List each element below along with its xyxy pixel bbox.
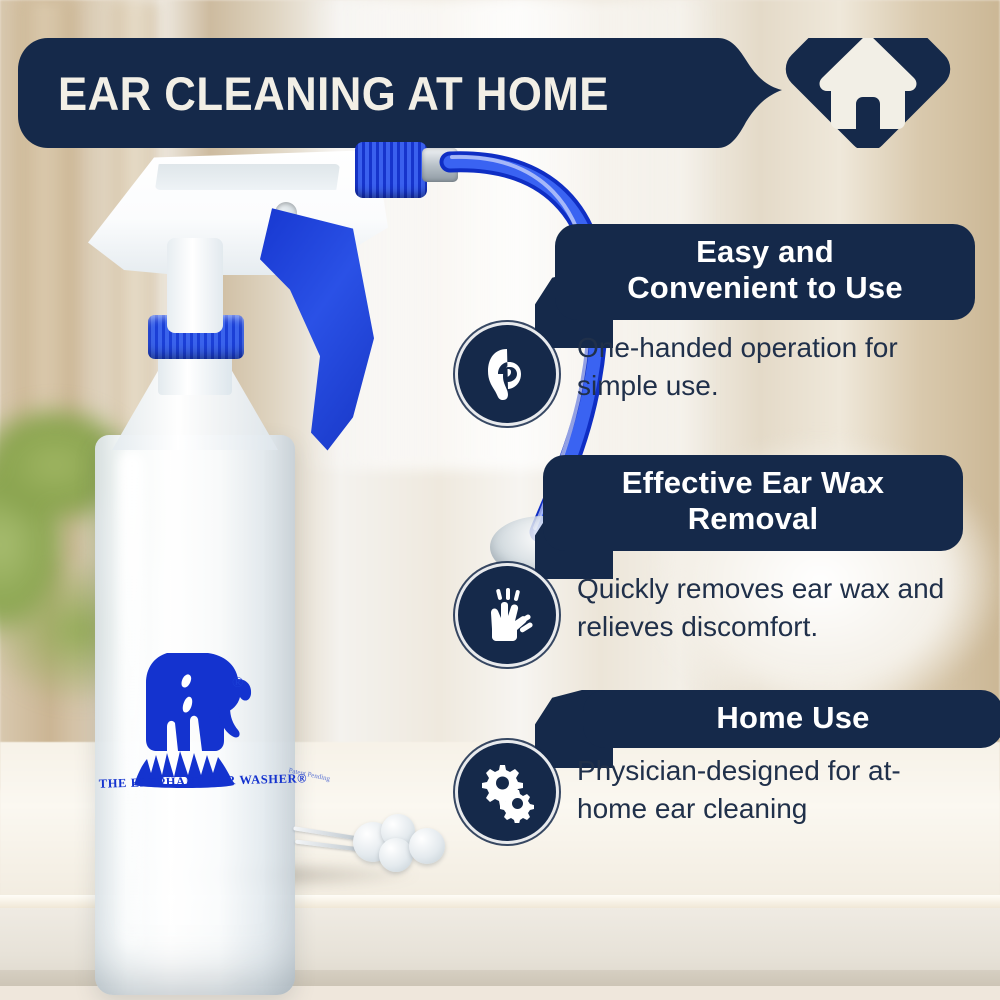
feature-title: Easy and Convenient to Use: [555, 224, 975, 320]
hose-ferrule: [422, 148, 458, 182]
feature-title-line1: Home Use: [605, 700, 981, 736]
ear-icon: [455, 322, 559, 426]
feature-title-line1: Easy and: [577, 234, 953, 270]
feature-title-line1: Effective Ear Wax: [565, 465, 941, 501]
elephant-icon: [120, 635, 270, 795]
feature-description: Physician-designed for at-home ear clean…: [577, 752, 967, 828]
trigger-head-groove: [155, 164, 340, 190]
feature-description: One-handed operation for simple use.: [577, 329, 977, 405]
nozzle-cap: [355, 142, 427, 198]
product-infographic: EAR CLEANING AT HOME ® THE EL: [0, 0, 1000, 1000]
feature-title-line2: Convenient to Use: [577, 270, 953, 306]
hand-cleaning-icon: [455, 563, 559, 667]
disposable-tips: [293, 802, 483, 882]
feature-title-line2: Removal: [565, 501, 941, 537]
feature-title: Effective Ear Wax Removal: [543, 455, 963, 551]
tip-head: [379, 838, 413, 872]
gears-icon: [455, 740, 559, 844]
sprayer-stem: [167, 238, 223, 333]
feature-description: Quickly removes ear wax and relieves dis…: [577, 570, 977, 646]
trigger-lever: [260, 198, 410, 453]
registered-mark: ®: [232, 675, 243, 692]
feature-title: Home Use: [583, 690, 1000, 748]
tip-head: [409, 828, 445, 864]
